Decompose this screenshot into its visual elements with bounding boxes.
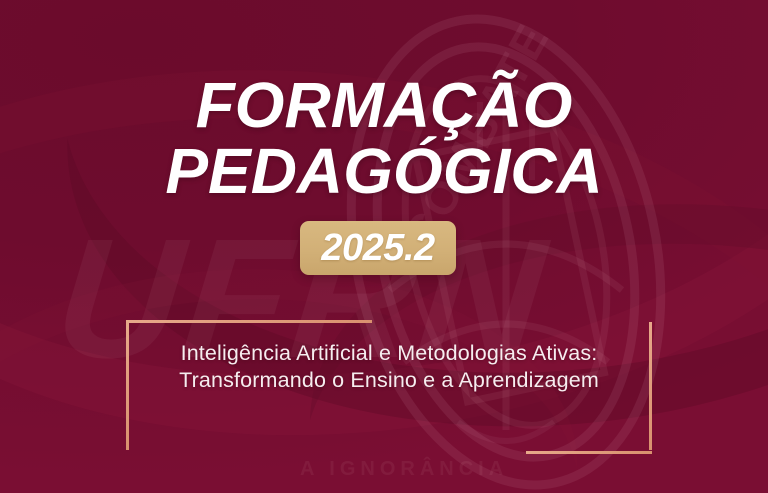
title-line-1: FORMAÇÃO xyxy=(0,72,768,138)
title-line-2: PEDAGÓGICA xyxy=(0,138,768,204)
term-badge-label: 2025.2 xyxy=(321,229,434,267)
term-badge: 2025.2 xyxy=(300,221,456,275)
page-title: FORMAÇÃO PEDAGÓGICA xyxy=(0,72,768,204)
poster-banner: UFRN COMBATE A IGNORÂNCIA FORMAÇÃO PEDA xyxy=(0,0,768,493)
subtitle-text: Inteligência Artificial e Metodologias A… xyxy=(146,340,632,394)
